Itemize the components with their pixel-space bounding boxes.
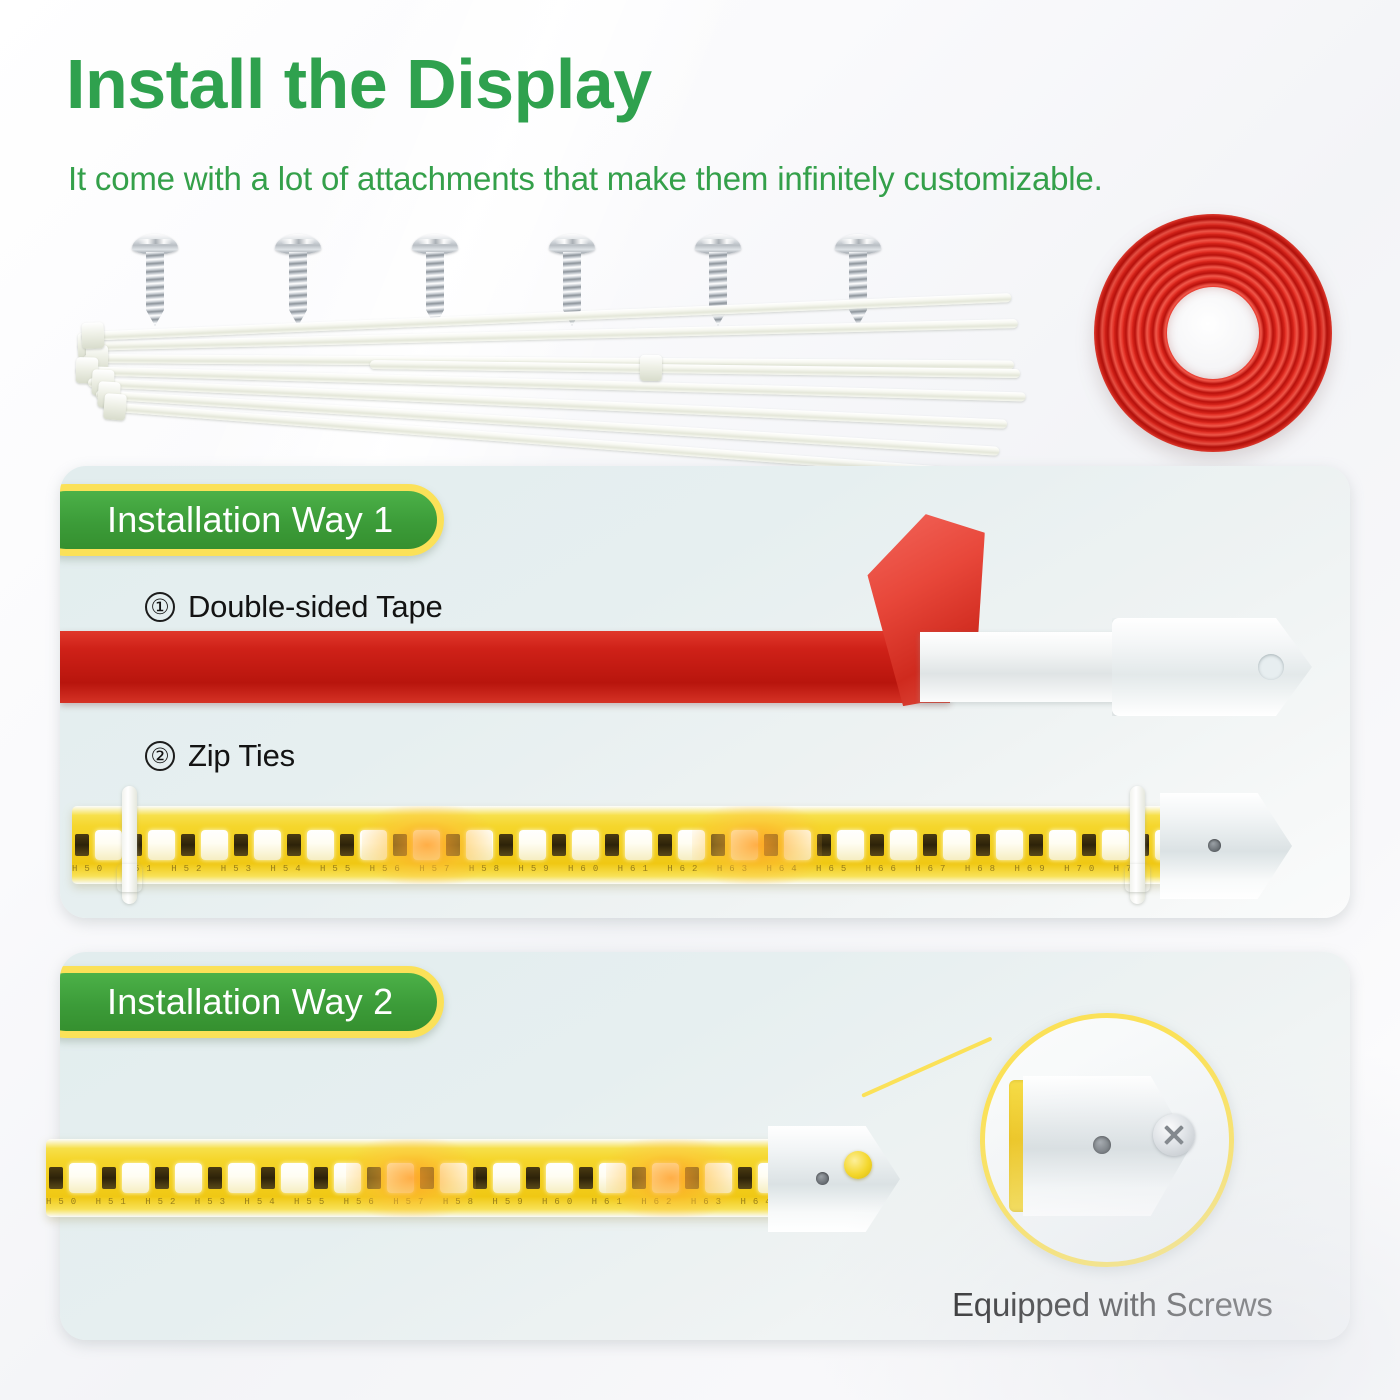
led-resistor — [1029, 834, 1043, 856]
led-resistor — [738, 1167, 752, 1189]
step-label-zip-ties: Zip Ties — [188, 738, 295, 774]
installation-way-1-label: Installation Way 1 — [107, 499, 393, 541]
led-chip-row — [72, 828, 1167, 862]
led-resistor — [1082, 834, 1096, 856]
led-resistor — [155, 1167, 169, 1189]
zip-tie-lock — [1125, 864, 1150, 892]
step-double-sided-tape: ① Double-sided Tape — [145, 589, 443, 625]
led-chip — [360, 830, 387, 860]
magnifier-caption: Equipped with Screws — [952, 1286, 1273, 1324]
led-chip — [599, 1163, 626, 1193]
screw-shaft — [849, 252, 867, 326]
zip-tie-lock — [117, 864, 142, 892]
screw-head — [412, 234, 458, 254]
led-resistor — [261, 1167, 275, 1189]
led-chip — [572, 830, 599, 860]
led-resistor — [817, 834, 831, 856]
end-cap-screw-hole — [816, 1172, 829, 1185]
led-chip-row — [46, 1161, 786, 1195]
led-chip — [652, 1163, 679, 1193]
led-resistor — [711, 834, 725, 856]
led-strip-lower: H50 H51 H52 H53 H54 H55 H56 H57 H58 H59 … — [46, 1139, 786, 1217]
led-chip — [175, 1163, 202, 1193]
led-resistor — [446, 834, 460, 856]
led-chip — [943, 830, 970, 860]
end-cap-screw-hole — [1208, 839, 1221, 852]
screw-head — [132, 234, 178, 254]
step-number-2: ② — [145, 741, 175, 771]
led-chip — [281, 1163, 308, 1193]
red-tape-strip — [60, 631, 950, 703]
led-resistor — [923, 834, 937, 856]
led-chip — [519, 830, 546, 860]
led-resistor — [420, 1167, 434, 1189]
led-resistor — [976, 834, 990, 856]
led-resistor — [605, 834, 619, 856]
led-strip-markings: H50 H51 H52 H53 H54 H55 H56 H57 H58 H59 … — [46, 1197, 786, 1208]
led-chip — [254, 830, 281, 860]
installation-way-1-badge: Installation Way 1 — [60, 484, 444, 556]
led-resistor — [473, 1167, 487, 1189]
led-resistor — [102, 1167, 116, 1189]
magnified-screw-hole — [1093, 1136, 1111, 1154]
zip-tie-loop — [1130, 786, 1145, 904]
led-chip — [784, 830, 811, 860]
zip-tie-head — [81, 322, 104, 349]
led-chip — [996, 830, 1023, 860]
led-resistor — [764, 834, 778, 856]
screw-shaft — [289, 252, 307, 326]
screw-shaft — [146, 252, 164, 326]
step-number-1: ① — [145, 592, 175, 622]
screw-head — [835, 234, 881, 254]
page-title: Install the Display — [66, 48, 652, 122]
magnifier-circle — [980, 1013, 1234, 1267]
led-strip-upper: H50 H51 H52 H53 H54 H55 H56 H57 H58 H59 … — [72, 806, 1167, 884]
led-resistor — [367, 1167, 381, 1189]
led-chip — [837, 830, 864, 860]
callout-anchor-dot — [844, 1151, 872, 1179]
infographic-page: Install the Display It come with a lot o… — [0, 0, 1400, 1400]
led-chip — [387, 1163, 414, 1193]
led-chip — [546, 1163, 573, 1193]
led-chip — [148, 830, 175, 860]
led-chip — [1049, 830, 1076, 860]
page-subtitle: It come with a lot of attachments that m… — [68, 160, 1103, 198]
led-resistor — [181, 834, 195, 856]
zip-tie-bundle — [70, 324, 1050, 434]
tape-roll-icon — [1094, 214, 1332, 452]
led-chip — [890, 830, 917, 860]
led-resistor — [49, 1167, 63, 1189]
zip-tie-head — [103, 393, 127, 421]
zip-tie-loop — [122, 786, 137, 904]
led-chip — [413, 830, 440, 860]
led-chip — [95, 830, 122, 860]
strip-end-cap-with-hole — [1112, 618, 1312, 716]
led-chip — [228, 1163, 255, 1193]
phillips-screw-icon — [1153, 1114, 1195, 1156]
led-chip — [466, 830, 493, 860]
led-resistor — [552, 834, 566, 856]
led-resistor — [234, 834, 248, 856]
accessories-area — [60, 212, 1350, 457]
screw-head — [695, 234, 741, 254]
led-chip — [705, 1163, 732, 1193]
led-resistor — [499, 834, 513, 856]
screw-shaft — [426, 252, 444, 326]
led-strip-markings: H50 H51 H52 H53 H54 H55 H56 H57 H58 H59 … — [72, 864, 1167, 875]
led-resistor — [685, 1167, 699, 1189]
screw-head — [549, 234, 595, 254]
screw-head — [275, 234, 321, 254]
led-chip — [493, 1163, 520, 1193]
step-label-double-sided-tape: Double-sided Tape — [188, 589, 443, 625]
led-chip — [69, 1163, 96, 1193]
led-chip — [440, 1163, 467, 1193]
led-chip — [678, 830, 705, 860]
step-zip-ties: ② Zip Ties — [145, 738, 295, 774]
led-resistor — [526, 1167, 540, 1189]
led-resistor — [393, 834, 407, 856]
led-resistor — [579, 1167, 593, 1189]
led-resistor — [340, 834, 354, 856]
led-resistor — [75, 834, 89, 856]
installation-way-2-badge: Installation Way 2 — [60, 966, 444, 1038]
led-resistor — [287, 834, 301, 856]
led-resistor — [314, 1167, 328, 1189]
led-chip — [122, 1163, 149, 1193]
led-resistor — [208, 1167, 222, 1189]
installation-way-2-label: Installation Way 2 — [107, 981, 393, 1023]
led-chip — [307, 830, 334, 860]
led-chip — [334, 1163, 361, 1193]
led-resistor — [632, 1167, 646, 1189]
led-chip — [731, 830, 758, 860]
zip-tie-head — [640, 355, 662, 381]
led-chip — [201, 830, 228, 860]
led-chip — [1102, 830, 1129, 860]
led-chip — [625, 830, 652, 860]
led-resistor — [870, 834, 884, 856]
screw-shaft — [709, 252, 727, 326]
led-resistor — [658, 834, 672, 856]
